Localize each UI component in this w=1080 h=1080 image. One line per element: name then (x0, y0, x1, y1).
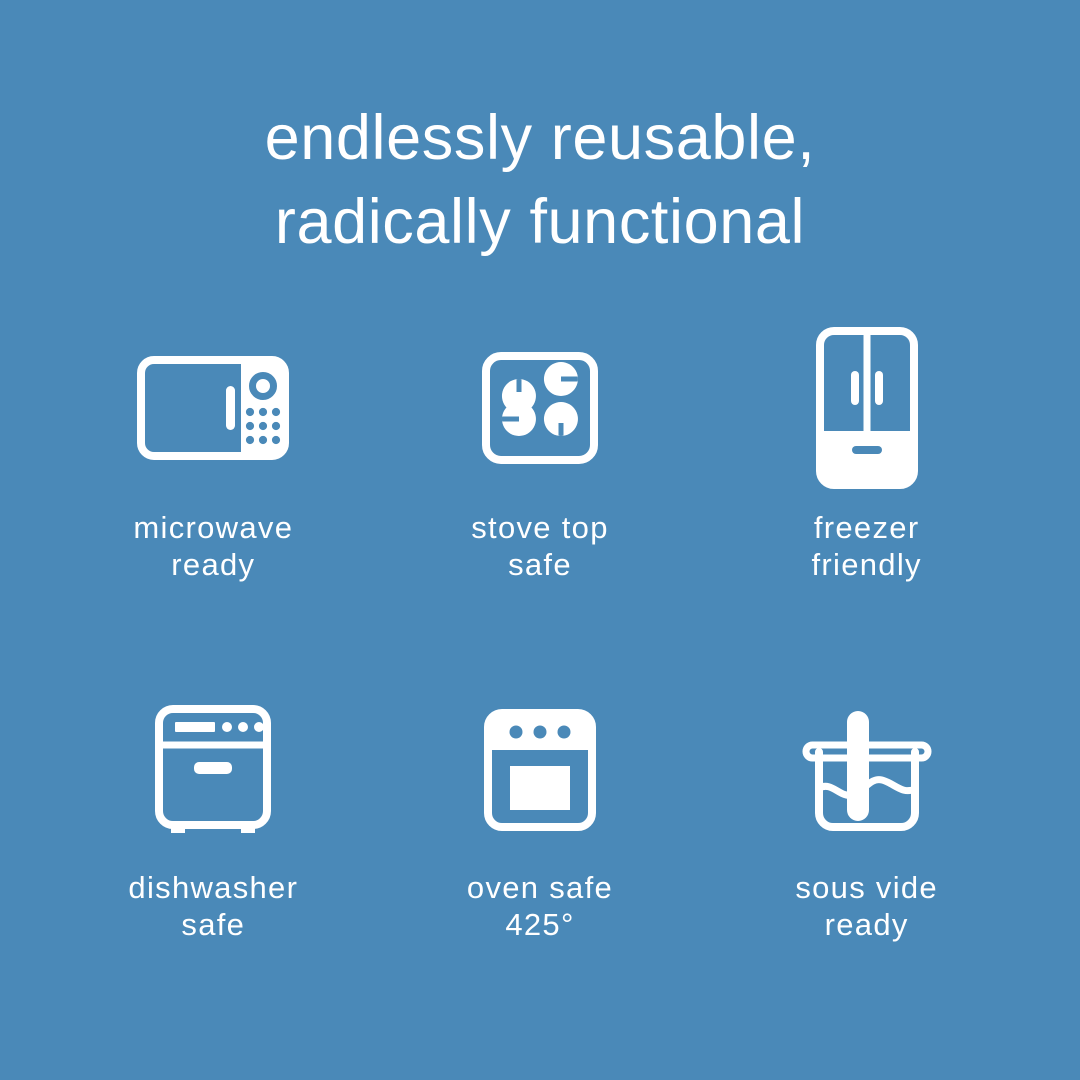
product-feature-poster: endlessly reusable, radically functional (0, 0, 1080, 1080)
dishwasher-icon (155, 705, 271, 835)
feature-label-microwave: microwave ready (133, 509, 293, 583)
page-title: endlessly reusable, radically functional (0, 96, 1080, 264)
oven-icon-box (484, 685, 596, 855)
sous-vide-icon-box (802, 685, 932, 855)
sous-vide-icon (802, 705, 932, 835)
feature-item-freezer: freezer friendly (703, 320, 1030, 685)
feature-item-stove-top: stove top safe (377, 320, 704, 685)
feature-item-microwave: microwave ready (50, 320, 377, 685)
feature-label-oven: oven safe 425° (467, 869, 613, 943)
feature-item-sous-vide: sous vide ready (703, 685, 1030, 1050)
feature-label-stove-top: stove top safe (471, 509, 609, 583)
freezer-icon (816, 327, 918, 489)
freezer-icon-box (816, 320, 918, 495)
microwave-icon (137, 356, 289, 460)
stove-top-icon-box (482, 320, 598, 495)
feature-grid: microwave ready stove top safe (50, 320, 1030, 1050)
feature-label-freezer: freezer friendly (811, 509, 921, 583)
dishwasher-icon-box (155, 685, 271, 855)
headline-line-1: endlessly reusable, (0, 96, 1080, 180)
feature-item-oven: oven safe 425° (377, 685, 704, 1050)
feature-label-sous-vide: sous vide ready (795, 869, 938, 943)
oven-icon (484, 709, 596, 831)
headline-line-2: radically functional (0, 180, 1080, 264)
stove-top-icon (482, 352, 598, 464)
feature-item-dishwasher: dishwasher safe (50, 685, 377, 1050)
feature-label-dishwasher: dishwasher safe (128, 869, 298, 943)
microwave-icon-box (137, 320, 289, 495)
